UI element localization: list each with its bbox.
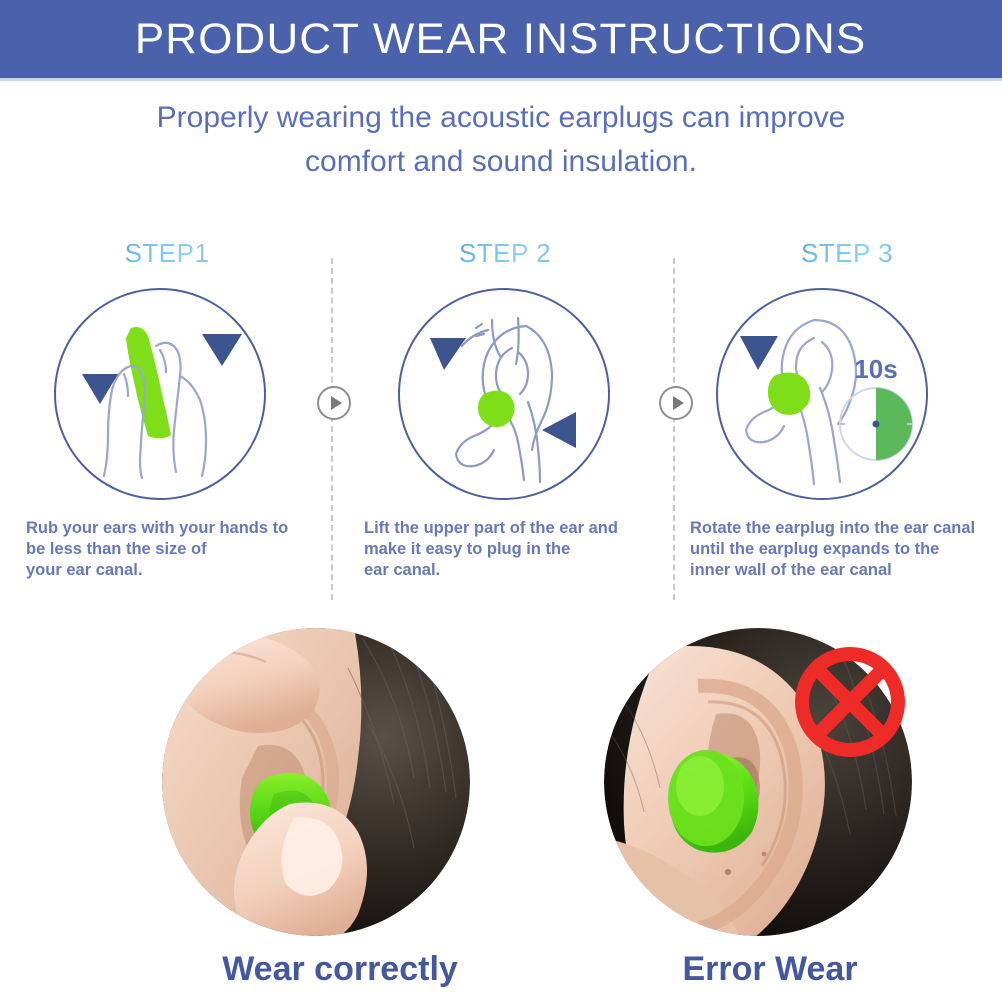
steps-section: STEP1 R xyxy=(0,236,1002,611)
play-arrow-icon xyxy=(673,396,684,410)
ear-with-earplug-inserted-photo xyxy=(162,628,470,936)
step-3-label: STEP 3 xyxy=(682,236,1002,270)
step-divider-1 xyxy=(331,258,333,600)
timer-label: 10s xyxy=(854,354,897,384)
photo-caption-error: Error Wear xyxy=(550,950,990,989)
header-bar: PRODUCT WEAR INSTRUCTIONS xyxy=(0,0,1002,78)
subtitle-line-1: Properly wearing the acoustic earplugs c… xyxy=(60,96,942,140)
play-arrow-icon xyxy=(331,396,342,410)
step-3-illustration: 10s xyxy=(716,288,928,500)
header-underline xyxy=(0,78,1002,81)
step-1-illustration xyxy=(54,288,266,500)
step-divider-2 xyxy=(673,258,675,600)
step-2-caption: Lift the upper part of the ear and make … xyxy=(364,518,680,581)
photo-block-correct: Wear correctly xyxy=(120,620,560,1002)
step-2-illustration xyxy=(398,288,610,500)
step-connector-2 xyxy=(659,386,693,420)
step-column-3: STEP 3 xyxy=(682,236,1002,611)
step-2-label: STEP 2 xyxy=(340,236,670,270)
page-title: PRODUCT WEAR INSTRUCTIONS xyxy=(135,15,867,64)
step-3-caption: Rotate the earplug into the ear canal un… xyxy=(690,518,1002,581)
step-1-caption: Rub your ears with your hands to be less… xyxy=(26,518,342,581)
photo-block-error: Error Wear xyxy=(550,620,990,1002)
step-connector-1 xyxy=(317,386,351,420)
photo-caption-correct: Wear correctly xyxy=(120,950,560,989)
step-column-1: STEP1 R xyxy=(2,236,332,611)
red-circle-x-icon xyxy=(790,642,910,762)
subtitle-line-2: comfort and sound insulation. xyxy=(60,140,942,184)
step-1-label: STEP1 xyxy=(2,236,332,270)
step-column-2: STEP 2 xyxy=(340,236,670,611)
subtitle: Properly wearing the acoustic earplugs c… xyxy=(60,96,942,184)
photos-section: Wear correctly xyxy=(0,620,1002,1002)
